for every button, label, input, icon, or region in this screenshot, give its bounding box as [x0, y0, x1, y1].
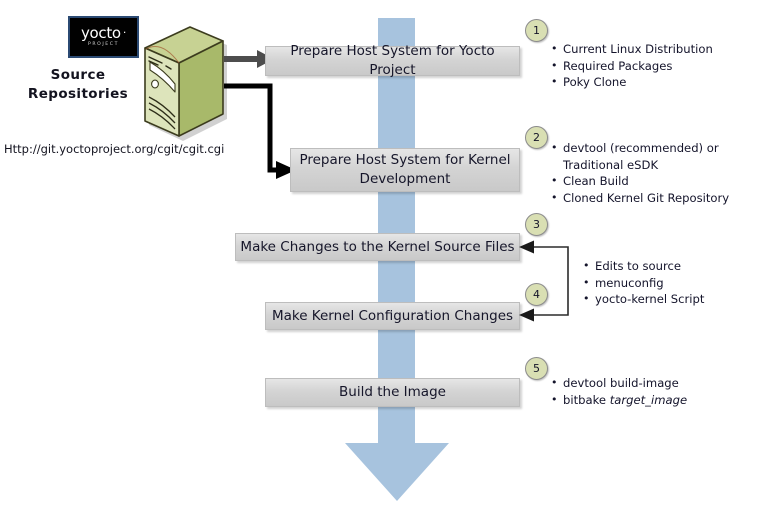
step-3-box-label: Make Changes to the Kernel Source Files: [240, 238, 514, 257]
yocto-project-logo: yocto· PROJECT: [68, 16, 139, 58]
step-2-bullet-0: devtool (recommended) or Traditional eSD…: [551, 140, 766, 173]
step-3-number: 3: [525, 213, 548, 236]
step-5-number-text: 5: [533, 362, 540, 375]
steps-3-4-bullet-1: menuconfig: [583, 275, 768, 292]
step-1-bullet-1: Required Packages: [551, 58, 766, 75]
step-2-box[interactable]: Prepare Host System for Kernel Developme…: [290, 148, 520, 192]
step-5-bullet-0: devtool build-image: [551, 375, 766, 392]
step-3-number-text: 3: [533, 218, 540, 231]
step-2-number: 2: [525, 126, 548, 149]
steps-3-4-bullet-0: Edits to source: [583, 258, 768, 275]
step-1-bullet-0: Current Linux Distribution: [551, 41, 766, 58]
yocto-logo-wordmark: yocto·: [81, 26, 126, 41]
source-repositories-label: Source Repositories: [18, 66, 138, 104]
step-1-bullet-2: Poky Clone: [551, 74, 766, 91]
step-2-bullet-2: Cloned Kernel Git Repository: [551, 190, 766, 207]
step-5-box[interactable]: Build the Image: [265, 378, 520, 407]
step-1-box[interactable]: Prepare Host System for Yocto Project: [265, 46, 520, 76]
step-1-bullets: Current Linux Distribution Required Pack…: [551, 41, 766, 91]
source-repositories-label-line2: Repositories: [18, 85, 138, 104]
step-5-bullet-1-italic: target_image: [610, 393, 687, 407]
yocto-logo-dot: ·: [123, 26, 126, 39]
steps-3-4-bullets: Edits to source menuconfig yocto-kernel …: [583, 258, 768, 308]
step-3-box[interactable]: Make Changes to the Kernel Source Files: [235, 233, 520, 261]
step-2-bullet-1: Clean Build: [551, 173, 766, 190]
step-5-bullet-0-text: devtool build-image: [563, 376, 679, 390]
step-5-bullet-1-text: bitbake: [563, 393, 610, 407]
source-repositories-url: Http://git.yoctoproject.org/cgit/cgit.cg…: [4, 142, 224, 156]
step-2-number-text: 2: [533, 131, 540, 144]
step-4-box[interactable]: Make Kernel Configuration Changes: [265, 302, 520, 330]
step-1-number: 1: [525, 19, 548, 42]
connector-server-to-step2: [224, 82, 300, 180]
step-1-number-text: 1: [533, 24, 540, 37]
steps-3-4-bullet-2: yocto-kernel Script: [583, 291, 768, 308]
step-5-box-label: Build the Image: [339, 383, 446, 402]
source-repositories-label-line1: Source: [18, 66, 138, 85]
step-1-box-label: Prepare Host System for Yocto Project: [266, 42, 519, 80]
step-5-bullets: devtool build-image bitbake target_image: [551, 375, 766, 408]
step-4-box-label: Make Kernel Configuration Changes: [272, 307, 513, 326]
step-5-number: 5: [525, 357, 548, 380]
workflow-backbone-arrow-head: [345, 443, 449, 501]
server-tower-icon: [133, 22, 229, 142]
step-2-bullets: devtool (recommended) or Traditional eSD…: [551, 140, 766, 206]
step-2-box-label: Prepare Host System for Kernel Developme…: [299, 151, 510, 189]
diagram-canvas: yocto· PROJECT Source Repositories Http:…: [0, 0, 769, 517]
step-5-bullet-1: bitbake target_image: [551, 392, 766, 409]
yocto-logo-subtitle: PROJECT: [88, 43, 119, 48]
connector-bracket-steps-3-4: [518, 238, 578, 324]
